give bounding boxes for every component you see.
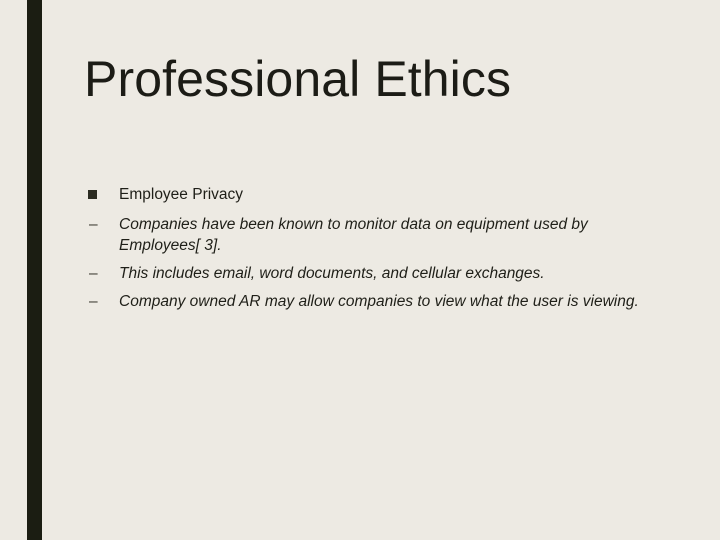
list-item: – Company owned AR may allow companies t… (84, 291, 664, 312)
accent-bar-decoration (27, 0, 42, 540)
list-item: – This includes email, word documents, a… (84, 263, 664, 284)
dash-bullet-icon: – (89, 214, 98, 235)
list-item: – Companies have been known to monitor d… (84, 214, 664, 256)
list-item-label: Employee Privacy (119, 186, 243, 203)
list-item-label: Company owned AR may allow companies to … (119, 291, 664, 312)
presentation-slide: Professional Ethics Employee Privacy – C… (0, 0, 720, 540)
list-item-label: This includes email, word documents, and… (119, 263, 664, 284)
dash-bullet-icon: – (89, 263, 98, 284)
square-bullet-icon (88, 190, 97, 199)
slide-body-content: Employee Privacy – Companies have been k… (84, 183, 664, 312)
page-title: Professional Ethics (84, 50, 684, 108)
list-item-label: Companies have been known to monitor dat… (119, 214, 664, 256)
list-item: Employee Privacy (84, 183, 664, 207)
dash-bullet-icon: – (89, 291, 98, 312)
